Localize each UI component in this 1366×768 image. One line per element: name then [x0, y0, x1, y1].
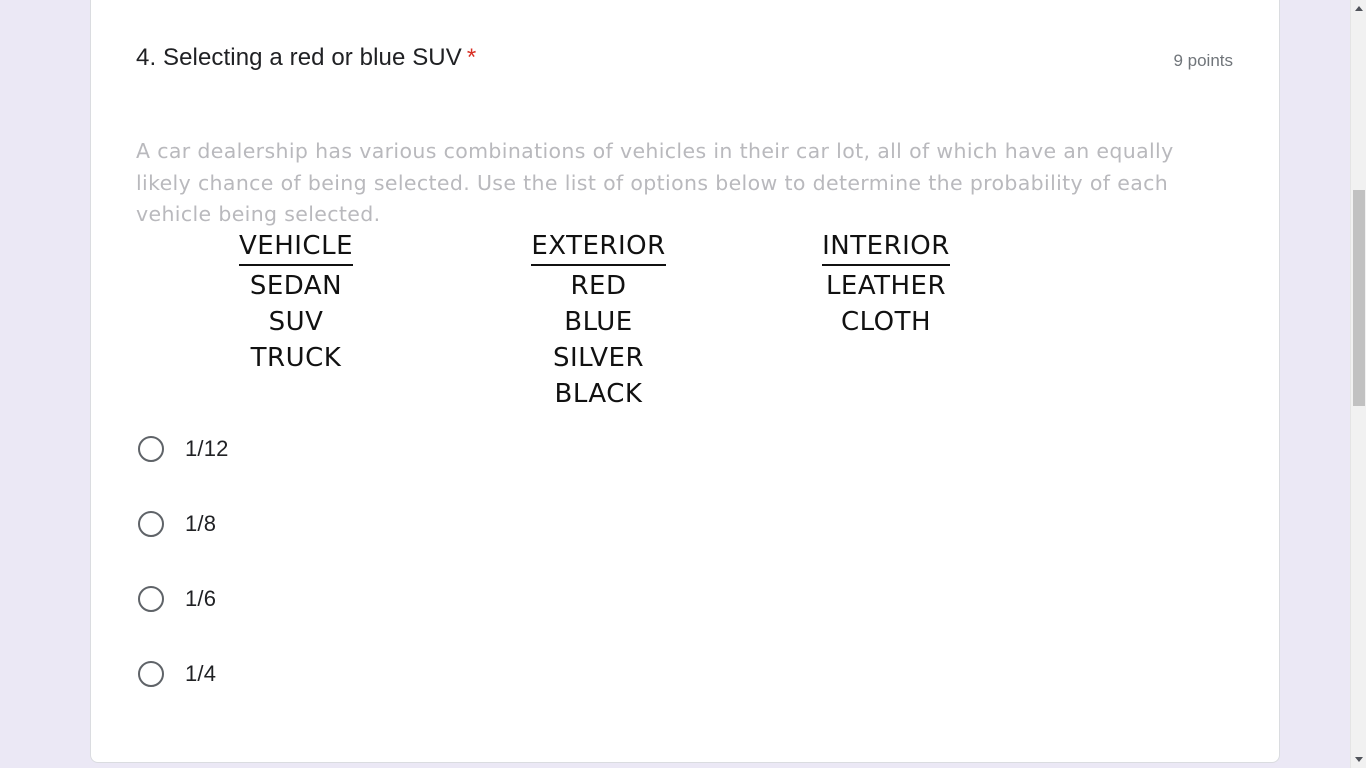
chevron-down-glyph — [1355, 757, 1363, 762]
radio-button-icon[interactable] — [138, 511, 164, 537]
chevron-up-icon[interactable] — [1351, 0, 1366, 17]
column-item: LEATHER — [826, 268, 946, 304]
required-asterisk: * — [467, 44, 476, 71]
page-viewport: 4. Selecting a red or blue SUV* 9 points… — [0, 0, 1350, 768]
chevron-up-glyph — [1355, 6, 1363, 11]
option-column-exterior: EXTERIOR RED BLUE SILVER BLACK — [456, 228, 741, 412]
radio-button-icon[interactable] — [138, 661, 164, 687]
radio-button-icon[interactable] — [138, 586, 164, 612]
radio-button-icon[interactable] — [138, 436, 164, 462]
column-item: RED — [570, 268, 626, 304]
column-header-exterior: EXTERIOR — [531, 228, 665, 266]
page-title: 4. Selecting a red or blue SUV* — [136, 43, 476, 73]
column-item: SUV — [269, 304, 324, 340]
question-title-text: 4. Selecting a red or blue SUV — [136, 44, 462, 71]
question-image-paragraph: A car dealership has various combination… — [136, 136, 1211, 231]
answer-options-list: 1/12 1/8 1/6 1/4 — [136, 429, 1226, 729]
column-item: SEDAN — [250, 268, 342, 304]
column-item: BLACK — [555, 376, 643, 412]
answer-option-label: 1/8 — [185, 510, 216, 538]
question-card: 4. Selecting a red or blue SUV* 9 points… — [90, 0, 1280, 763]
column-header-vehicle: VEHICLE — [239, 228, 353, 266]
answer-option-label: 1/12 — [185, 435, 229, 463]
points-label: 9 points — [1173, 49, 1233, 73]
column-header-interior: INTERIOR — [822, 228, 950, 266]
answer-option-1-6[interactable]: 1/6 — [136, 579, 1226, 619]
column-item: CLOTH — [841, 304, 931, 340]
question-image: A car dealership has various combination… — [136, 126, 1236, 416]
answer-option-label: 1/4 — [185, 660, 216, 688]
option-columns-table: VEHICLE SEDAN SUV TRUCK EXTERIOR RED BLU… — [136, 228, 1136, 412]
answer-option-1-4[interactable]: 1/4 — [136, 654, 1226, 694]
chevron-down-icon[interactable] — [1351, 751, 1366, 768]
column-item: TRUCK — [251, 340, 342, 376]
option-column-interior: INTERIOR LEATHER CLOTH — [741, 228, 1031, 412]
column-item: BLUE — [564, 304, 633, 340]
scrollbar-thumb[interactable] — [1353, 190, 1365, 406]
answer-option-1-12[interactable]: 1/12 — [136, 429, 1226, 469]
column-item: SILVER — [553, 340, 644, 376]
question-header: 4. Selecting a red or blue SUV* 9 points — [91, 0, 1279, 101]
option-column-vehicle: VEHICLE SEDAN SUV TRUCK — [136, 228, 456, 412]
answer-option-label: 1/6 — [185, 585, 216, 613]
vertical-scrollbar[interactable] — [1350, 0, 1366, 768]
answer-option-1-8[interactable]: 1/8 — [136, 504, 1226, 544]
